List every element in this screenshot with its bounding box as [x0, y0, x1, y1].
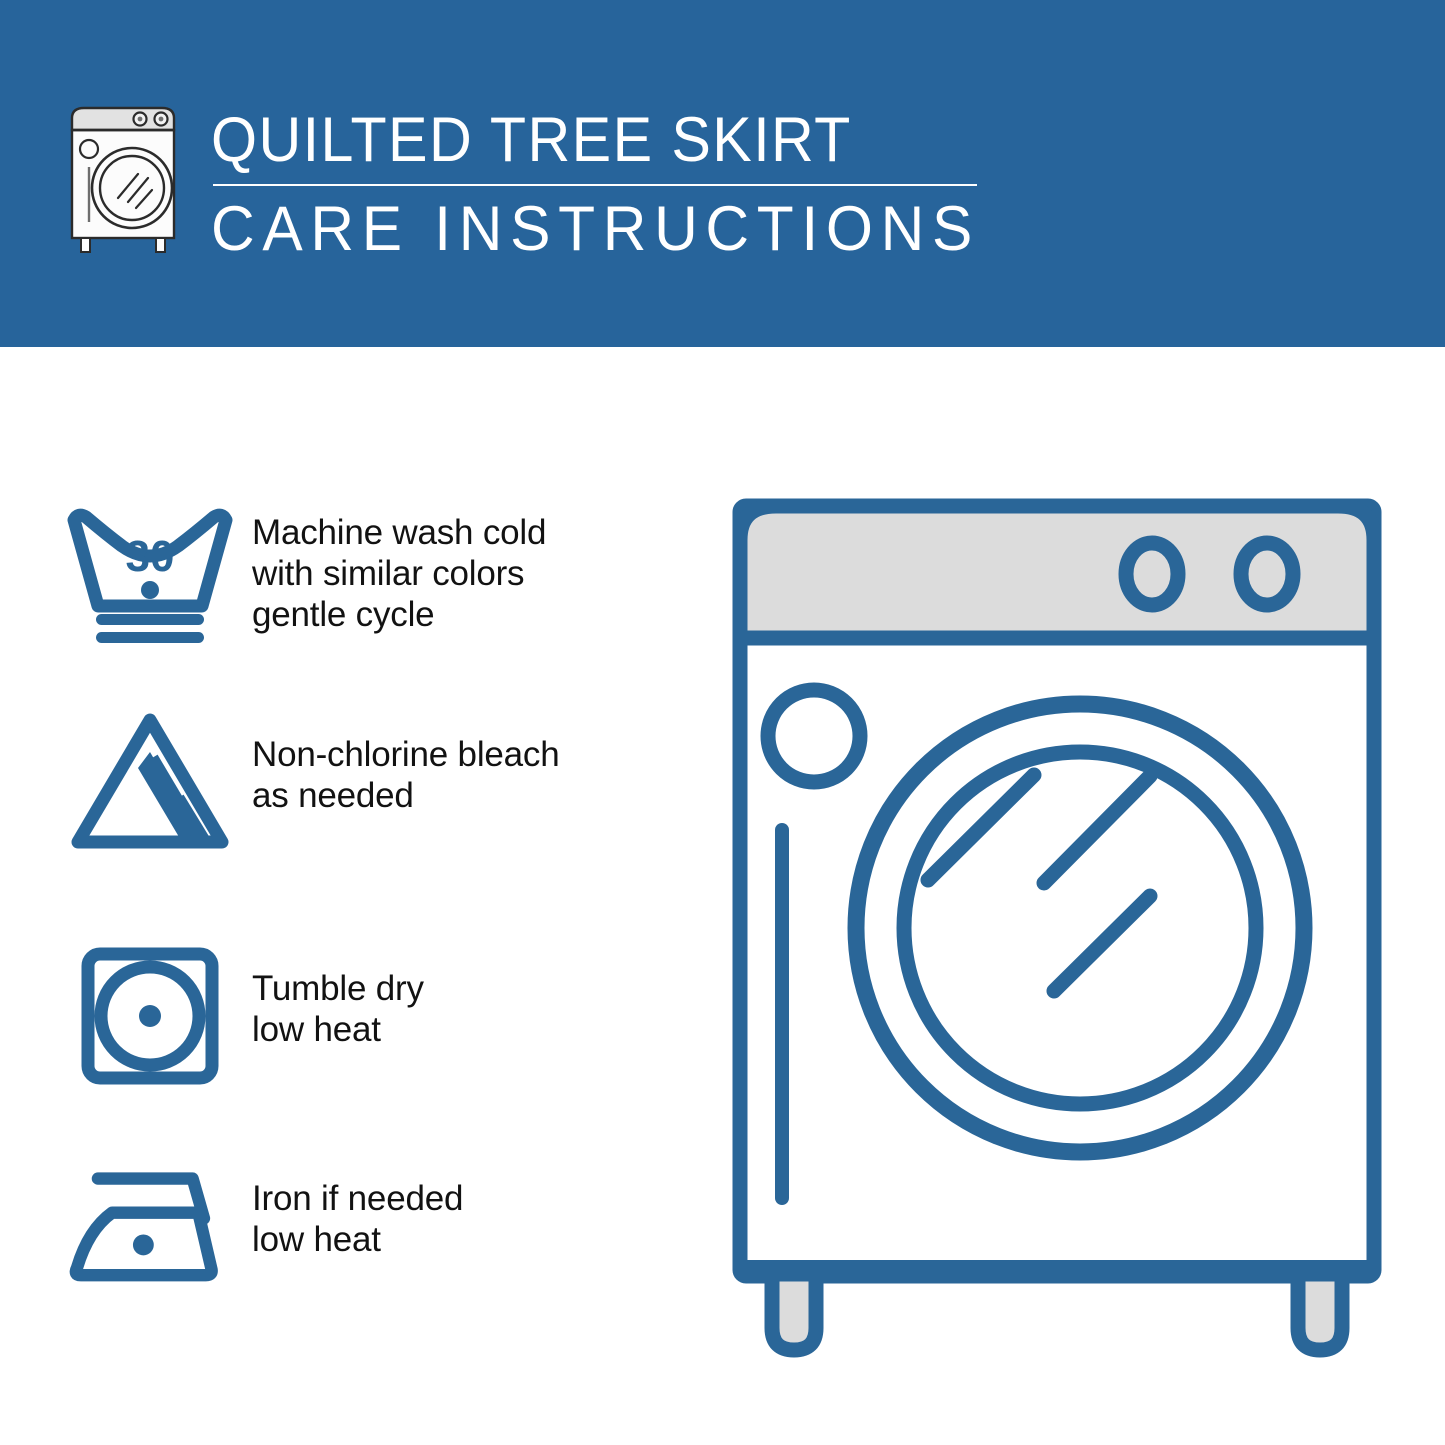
page-title-product: QUILTED TREE SKIRT [211, 104, 963, 176]
detergent-port [768, 690, 860, 782]
drum-inner-ring [904, 752, 1256, 1104]
machine-base-bar [740, 1260, 1374, 1278]
care-row-dry: Tumble dry low heat [60, 940, 700, 1090]
tumble-dry-low-icon [60, 940, 240, 1090]
care-row-bleach: Non-chlorine bleach as needed [60, 706, 700, 856]
header-band: QUILTED TREE SKIRT CARE INSTRUCTIONS [0, 0, 1445, 347]
care-text-bleach: Non-chlorine bleach as needed [240, 706, 560, 816]
knob-right [1241, 543, 1293, 605]
knob-left [1126, 543, 1178, 605]
svg-text:30: 30 [126, 532, 175, 581]
iron-low-heat-icon [60, 1150, 240, 1300]
care-text-wash: Machine wash cold with similar colors ge… [240, 498, 546, 635]
care-row-wash: 30 Machine wash cold with similar colors… [60, 498, 700, 648]
machine-wash-30-gentle-icon: 30 [60, 498, 240, 648]
washing-machine-illustration [722, 488, 1392, 1368]
page-title-subtitle: CARE INSTRUCTIONS [211, 190, 980, 268]
non-chlorine-bleach-triangle-icon [60, 706, 240, 856]
washing-machine-icon [62, 100, 192, 255]
care-text-iron: Iron if needed low heat [240, 1150, 463, 1260]
header-divider [213, 184, 977, 186]
care-instructions-page: QUILTED TREE SKIRT CARE INSTRUCTIONS 30 … [0, 0, 1445, 1445]
leg-right [1298, 1274, 1342, 1350]
header-title-block: QUILTED TREE SKIRT [211, 104, 1011, 176]
care-row-iron: Iron if needed low heat [60, 1150, 700, 1300]
care-text-dry: Tumble dry low heat [240, 940, 424, 1050]
leg-left [772, 1274, 816, 1350]
